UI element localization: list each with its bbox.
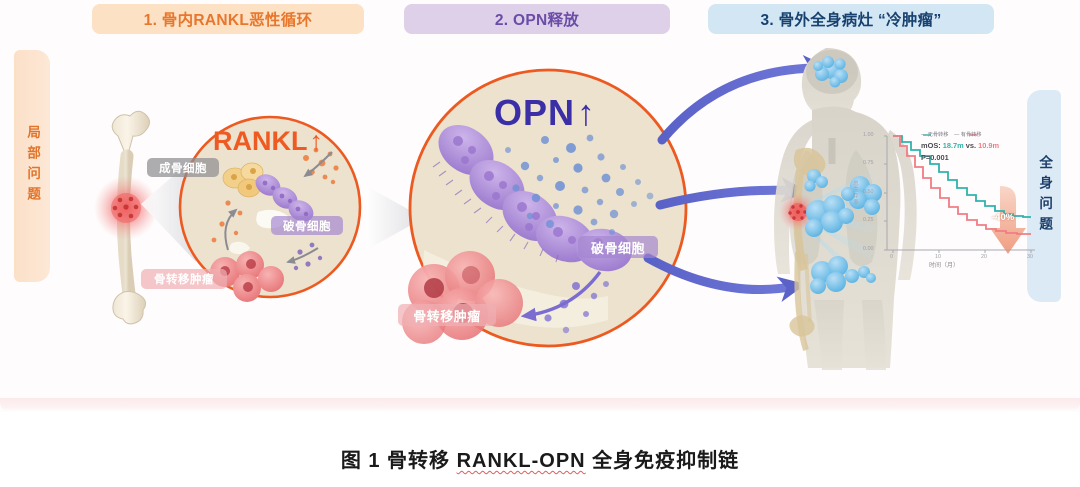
rankl-up-arrow-icon: ↑ [310, 126, 324, 157]
x-tick-4: 30 [1027, 254, 1033, 260]
x-tick-3: 20 [981, 254, 987, 260]
opn-up-arrow-icon: ↑ [577, 92, 596, 134]
figure-root: 1. 骨内RANKL恶性循环 2. OPN释放 3. 骨外全身病灶 “冷肿瘤” … [0, 0, 1080, 487]
y-tick-3: 0.50 [863, 189, 874, 195]
x-axis-title: 时间（月） [929, 260, 959, 269]
x-tick-1: 0 [890, 254, 893, 260]
survival-legend-item-2: — 有骨转移 [954, 132, 981, 138]
y-tick-1: 1.00 [863, 132, 874, 138]
y-tick-5: 0.00 [863, 246, 874, 252]
rankl-headline: RANKL ↑ [213, 126, 323, 157]
panel-bottom-strip [0, 398, 1080, 412]
figure-caption: 图 1 骨转移 RANKL-OPN 全身免疫抑制链 [0, 444, 1080, 473]
survival-mos-annotation: mOS: 18.7m vs. 10.9m [921, 141, 999, 150]
long-bone-illustration [94, 111, 158, 324]
survival-drop-label: -40% [992, 212, 1014, 223]
mos-value-1: 18.7m [943, 141, 964, 150]
figure-caption-term: RANKL-OPN [457, 450, 586, 472]
opn-headline: OPN ↑ [494, 92, 596, 134]
label-tumor-stage2: 骨转移肿瘤 [398, 304, 496, 326]
y-tick-4: 0.25 [863, 217, 874, 223]
survival-curve-inset: — 无骨转移 — 有骨转移 mOS: 18.7m vs. 10.9m P=0.0… [845, 128, 1041, 276]
survival-pvalue: P=0.001 [921, 153, 949, 162]
mos-prefix: mOS: [921, 141, 943, 150]
label-tumor-stage1: 骨转移肿瘤 [141, 269, 227, 289]
survival-curve-svg [845, 128, 1041, 276]
figure-caption-prefix: 图 1 骨转移 [341, 450, 457, 472]
figure-panel: 1. 骨内RANKL恶性循环 2. OPN释放 3. 骨外全身病灶 “冷肿瘤” … [0, 0, 1080, 412]
label-osteoblast-stage1: 成骨细胞 [147, 158, 219, 177]
label-osteoclast-stage1: 破骨细胞 [271, 216, 343, 235]
survival-legend: — 无骨转移 — 有骨转移 [921, 131, 982, 138]
y-axis-title: 总生存率 [851, 180, 859, 206]
figure-caption-suffix: 全身免疫抑制链 [586, 450, 740, 472]
mos-separator: vs. [964, 141, 978, 150]
rankl-headline-text: RANKL [213, 126, 308, 157]
label-osteoclast-stage2: 破骨细胞 [578, 236, 658, 258]
mos-value-2: 10.9m [978, 141, 999, 150]
opn-headline-text: OPN [494, 92, 575, 134]
y-tick-2: 0.75 [863, 160, 874, 166]
survival-legend-item-1: — 无骨转移 [921, 132, 948, 138]
